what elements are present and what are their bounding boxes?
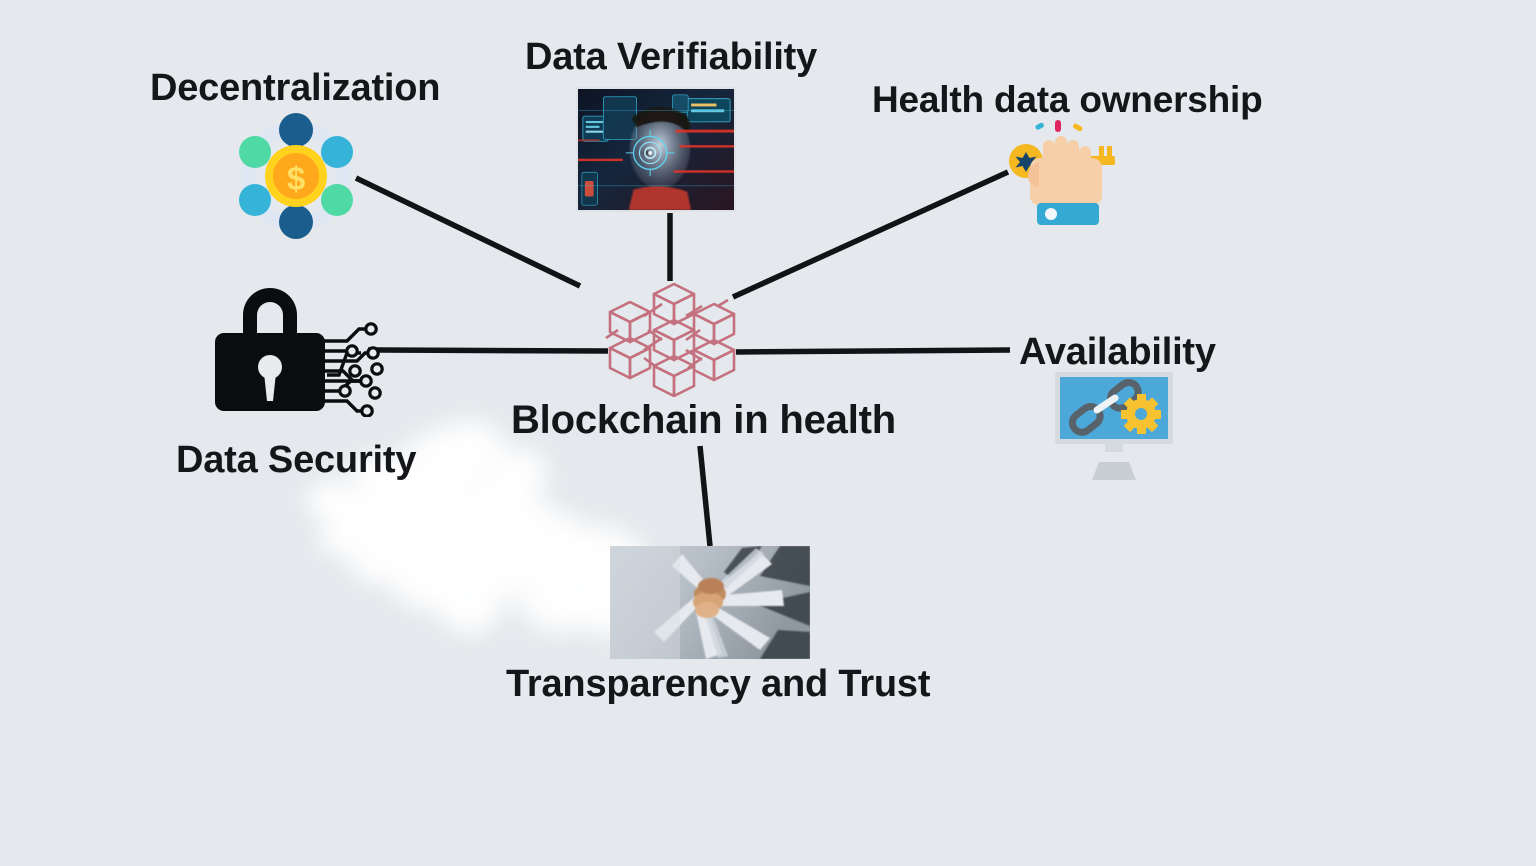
edge-availability [736, 350, 1010, 352]
label-data-verifiability: Data Verifiability [525, 38, 817, 76]
label-availability: Availability [1019, 333, 1216, 371]
label-health-data-ownership: Health data ownership [872, 81, 1263, 118]
diagram-canvas: Decentralization $ Data Verifiability [0, 0, 1536, 866]
svg-text:$: $ [287, 160, 305, 197]
page-title-blockchain-in-health: Blockchain in health [511, 400, 896, 440]
facial-scan-photo [576, 87, 736, 212]
edge-data-security [368, 350, 608, 351]
edge-decentralization [356, 178, 580, 286]
hands-together-photo [610, 546, 810, 659]
monitor-chain-gear-icon [1053, 370, 1175, 482]
decentralized-network-coin-icon: $ [232, 112, 360, 240]
hand-holding-key-icon [1003, 118, 1128, 233]
label-data-security: Data Security [176, 441, 416, 479]
blockchain-cubes-icon [600, 272, 748, 397]
edge-health-data-ownership [733, 172, 1008, 297]
label-decentralization: Decentralization [150, 69, 440, 107]
edge-transparency-and-trust [700, 446, 710, 546]
padlock-circuit-icon [205, 285, 385, 417]
label-transparency-and-trust: Transparency and Trust [506, 665, 930, 703]
